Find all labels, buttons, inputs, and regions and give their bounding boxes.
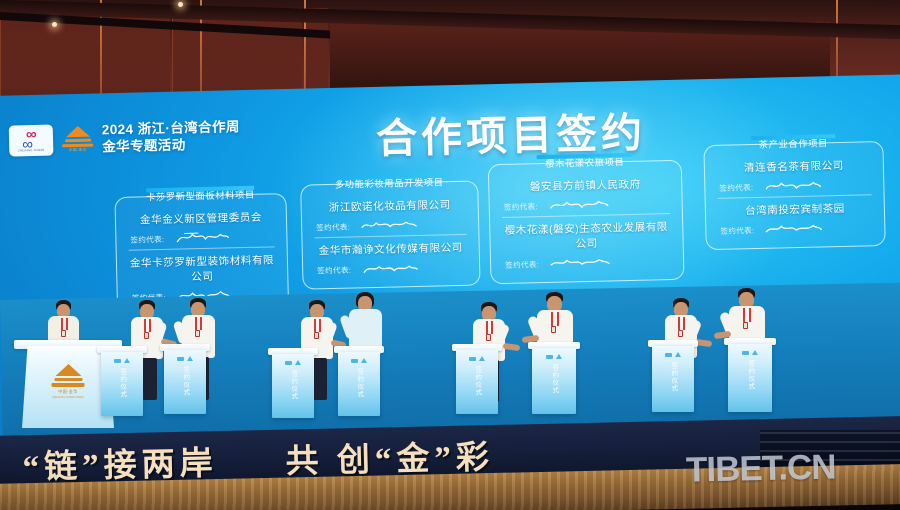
signing-card-party-b: 金华卡莎罗新型装饰材料有限公司 <box>127 252 278 286</box>
signing-podium: 签约仪式 <box>164 350 206 414</box>
signing-card-rep-row-a: 签约代表: <box>126 228 276 249</box>
signing-card: 多功能彩妆用品开发项目 浙江欧诺化妆品有限公司 签约代表: 金华市瀚诤文化传媒有… <box>300 181 480 290</box>
signing-podium: 签约仪式 <box>456 350 498 414</box>
ceiling-downlight-icon <box>178 2 183 7</box>
rep-label: 签约代表: <box>317 265 351 277</box>
podium-label: 签约仪式 <box>550 364 559 394</box>
podium-label: 签约仪式 <box>181 366 190 396</box>
event-header-line1: 2024 浙江·台湾合作周 <box>102 118 240 139</box>
signing-card-party-a: 磐安县方前镇人民政府 <box>499 176 671 195</box>
signature-b <box>760 219 870 236</box>
podium-label: 签约仪式 <box>669 362 678 392</box>
signature-a <box>170 228 272 244</box>
signing-podium: 签约仪式 <box>338 352 380 416</box>
rep-label: 签约代表: <box>720 225 754 237</box>
rep-label: 签约代表: <box>504 201 538 213</box>
podium-label: 签约仪式 <box>746 360 755 390</box>
signing-podium: 签约仪式 <box>652 346 694 412</box>
signing-podium: 签约仪式 <box>532 348 576 414</box>
signature-a <box>544 195 668 212</box>
signing-card-project-title: 多功能彩妆用品开发项目 <box>328 174 451 191</box>
rep-label: 签约代表: <box>505 259 539 271</box>
site-watermark: TIBET.CN <box>686 447 836 490</box>
event-header-text: 2024 浙江·台湾合作周 金华专题活动 <box>102 118 241 156</box>
signing-card-rep-row-b: 签约代表: <box>716 219 874 240</box>
signing-podium: 签约仪式 <box>101 352 143 416</box>
podium-label: 签约仪式 <box>473 366 482 396</box>
signature-b <box>545 253 669 270</box>
signing-card-party-a: 金华金义新区管理委员会 <box>126 209 276 228</box>
screenshot-root: ∞ ∞ ZHEJIANG TAIWAN 中国·金华 2024 浙江·台湾合作周 … <box>0 0 900 510</box>
podium-label: 签约仪式 <box>118 368 127 398</box>
event-brand-bar: ∞ ∞ ZHEJIANG TAIWAN 中国·金华 2024 浙江·台湾合作周 … <box>9 118 241 158</box>
signing-card-project-title: 茶产业合作项目 <box>752 135 836 151</box>
ceiling-downlight-icon <box>52 22 57 27</box>
signing-podium: 签约仪式 <box>728 344 772 412</box>
signing-card-party-a: 清连香名茶有限公司 <box>715 157 873 176</box>
podium-label: 签约仪式 <box>355 368 364 398</box>
signature-a <box>356 216 464 233</box>
event-header-line2: 金华专题活动 <box>102 135 240 156</box>
signing-card-party-b: 樱木花漾(磐安)生态农业发展有限公司 <box>500 219 673 253</box>
rep-label: 签约代表: <box>130 234 164 246</box>
lectern-logo-caption: 中国·金华 <box>58 389 78 395</box>
jinhua-lectern-logo-icon: 中国·金华 ZHEJIANG TAIWAN WEEK <box>52 364 85 399</box>
jinhua-logo-caption: 中国·金华 <box>69 148 87 153</box>
rep-label: 签约代表: <box>316 222 350 234</box>
signing-card-rep-row-b: 签约代表: <box>313 259 469 280</box>
signature-b <box>357 259 465 276</box>
signing-card: 樱木花漾农旅项目 磐安县方前镇人民政府 签约代表: 樱木花漾(磐安)生态农业发展… <box>488 160 685 285</box>
signing-card-project-title: 樱木花漾农旅项目 <box>538 154 631 170</box>
signing-card: 茶产业合作项目 清连香名茶有限公司 签约代表: 台湾南投宏宾制茶园 签约代表: <box>703 141 885 250</box>
signing-card-party-b: 金华市瀚诤文化传媒有限公司 <box>313 240 469 259</box>
podium-label: 签约仪式 <box>289 370 298 400</box>
rep-label: 签约代表: <box>719 182 753 194</box>
cooperation-week-logo-icon: ∞ ∞ ZHEJIANG TAIWAN <box>9 124 54 156</box>
signing-card-project-title: 卡莎罗新型面板材料项目 <box>139 187 262 204</box>
signing-card-party-a: 浙江欧诺化妆品有限公司 <box>312 197 468 216</box>
signing-podium: 签约仪式 <box>272 354 314 418</box>
signing-card-rep-row-b: 签约代表: <box>501 253 673 274</box>
jinhua-logo-icon: 中国·金华 <box>62 125 94 153</box>
signing-card-party-b: 台湾南投宏宾制茶园 <box>716 200 874 219</box>
signature-a <box>759 176 869 193</box>
